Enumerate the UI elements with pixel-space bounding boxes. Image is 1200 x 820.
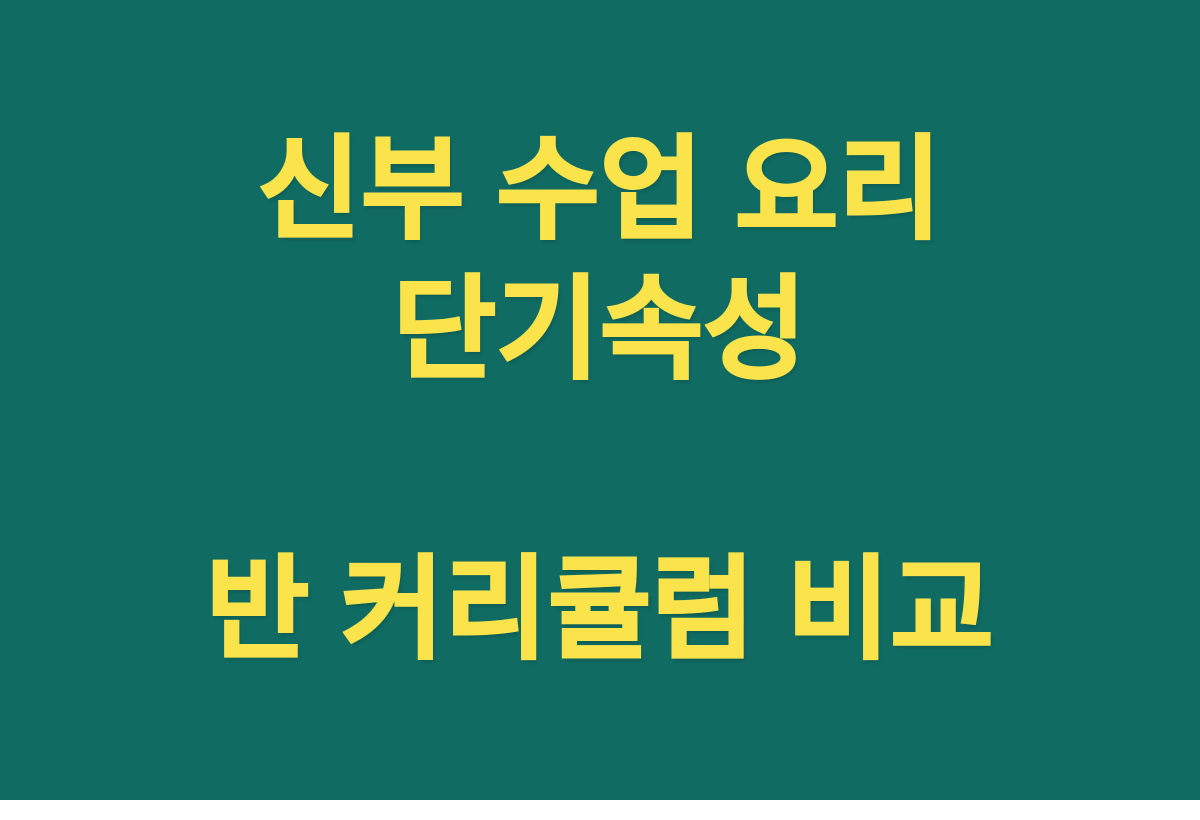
title-line-2: 반 커리큘럼 비교 xyxy=(60,540,1140,680)
title-line-1: 신부 수업 요리 단기속성 xyxy=(60,120,1140,400)
page-title: 신부 수업 요리 단기속성 반 커리큘럼 비교 xyxy=(0,0,1200,820)
text-banner: 신부 수업 요리 단기속성 반 커리큘럼 비교 xyxy=(0,0,1200,800)
